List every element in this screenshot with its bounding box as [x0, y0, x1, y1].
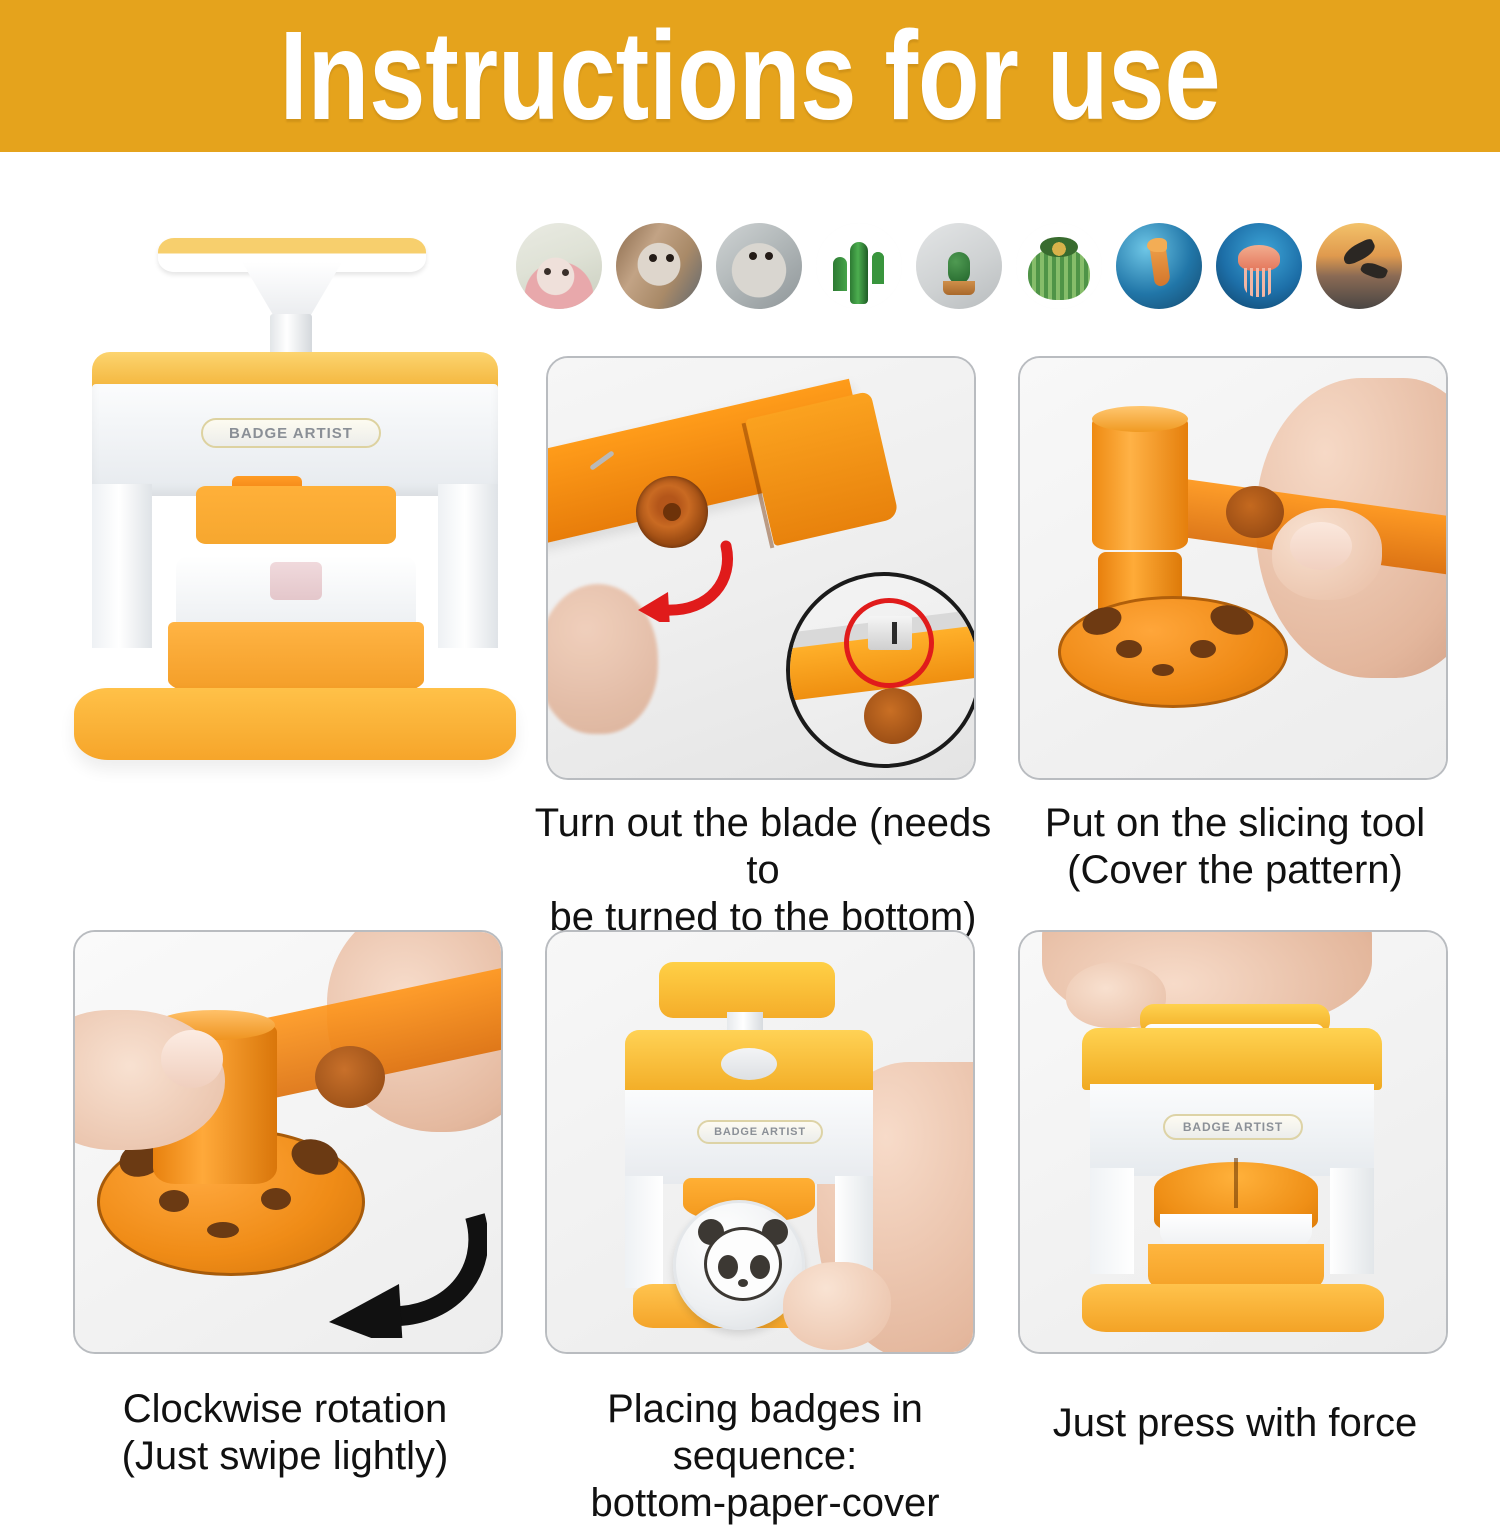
red-highlight-circle-icon: [844, 598, 934, 688]
machine-leg-right: [438, 484, 498, 648]
brand-label-plate: BADGE ARTIST: [1163, 1114, 1303, 1140]
step-panel-turn-out-blade: [546, 356, 976, 780]
badge-thumbnail-potted-cactus: [916, 223, 1002, 309]
badge-thumbnail-seahorse: [1116, 223, 1202, 309]
panda-eye-right: [750, 1255, 770, 1279]
badge-thumbnail-dolphin: [1316, 223, 1402, 309]
placing-badges-step-photo: BADGE ARTIST: [547, 932, 973, 1352]
panda-eye-left: [1116, 640, 1142, 658]
panda-head: [704, 1227, 782, 1301]
slicing-tool-cylinder-upper: [1092, 418, 1188, 550]
instructions-header-banner: Instructions for use: [0, 0, 1500, 152]
step-panel-press-with-force: BADGE ARTIST: [1018, 930, 1448, 1354]
badge-sample-strip: [516, 216, 1416, 316]
blade-dial-knob: [636, 476, 708, 548]
badge-press-machine-illustration: BADGE ARTIST: [56, 222, 526, 792]
brand-label-plate: BADGE ARTIST: [697, 1120, 823, 1144]
caption-placing-badges: Placing badges in sequence: bottom-paper…: [520, 1386, 1010, 1528]
panda-nose: [207, 1222, 239, 1238]
machine-base: [74, 688, 516, 760]
press-die-upper: [196, 486, 396, 544]
machine-top-cover: [625, 1030, 873, 1096]
badge-thumbnail-jellyfish: [1216, 223, 1302, 309]
panda-eye-right: [1190, 640, 1216, 658]
hand-thumb: [783, 1262, 891, 1350]
fingernail: [161, 1030, 223, 1088]
badge-thumbnail-barrel-cactus: [1016, 223, 1102, 309]
fingernail: [1290, 522, 1352, 570]
brand-label-text: BADGE ARTIST: [229, 425, 353, 442]
machine-leg-left: [92, 484, 152, 648]
brand-label-text: BADGE ARTIST: [714, 1126, 806, 1138]
blade-dial-knob: [1226, 486, 1284, 538]
page-title: Instructions for use: [280, 13, 1221, 139]
press-step-photo: BADGE ARTIST: [1020, 932, 1446, 1352]
caption-turn-out-blade: Turn out the blade (needs to be turned t…: [520, 800, 1006, 942]
caption-put-on-slicing-tool: Put on the slicing tool (Cover the patte…: [1010, 800, 1460, 894]
blade-step-photo: [548, 358, 974, 778]
step-panel-put-on-slicing-tool: [1018, 356, 1448, 780]
hero-product-photo: BADGE ARTIST: [56, 222, 526, 792]
press-die-white-holder: [176, 556, 416, 630]
badge-thumbnail-grey-kitten: [716, 223, 802, 309]
panda-eye-left: [159, 1190, 189, 1212]
red-curved-arrow-icon: [622, 540, 742, 622]
badge-thumbnail-cactus: [816, 223, 902, 309]
press-handle-plate: [659, 962, 835, 1018]
press-die-seam: [1234, 1158, 1238, 1208]
blade-dial-knob: [315, 1046, 385, 1108]
machine-leg-left: [1090, 1168, 1134, 1274]
blade-dial-closeup: [864, 688, 922, 744]
rotation-step-photo: [75, 932, 501, 1352]
brand-label-text: BADGE ARTIST: [1183, 1120, 1283, 1134]
press-handle-neck: [242, 262, 342, 320]
machine-base: [1082, 1284, 1384, 1332]
panda-eye-left: [718, 1255, 738, 1279]
machine-top-cover: [1082, 1028, 1382, 1090]
panda-eye-right: [261, 1188, 291, 1210]
badge-thumbnail-tabby-kitten: [616, 223, 702, 309]
panda-nose: [1152, 664, 1174, 676]
black-curved-arrow-icon: [307, 1210, 487, 1338]
caption-clockwise-rotation: Clockwise rotation (Just swipe lightly): [60, 1386, 510, 1480]
caption-press-with-force: Just press with force: [1010, 1400, 1460, 1447]
panda-nose: [738, 1279, 748, 1287]
badge-thumbnail-white-kitten: [516, 223, 602, 309]
machine-leg-left: [625, 1176, 663, 1288]
brand-label-plate: BADGE ARTIST: [201, 418, 381, 448]
step-panel-placing-badges: BADGE ARTIST: [545, 930, 975, 1354]
slicing-tool-step-photo: [1020, 358, 1446, 778]
machine-leg-right: [1330, 1168, 1374, 1274]
step-panel-clockwise-rotation: [73, 930, 503, 1354]
blade-detail-inset: [786, 572, 976, 768]
